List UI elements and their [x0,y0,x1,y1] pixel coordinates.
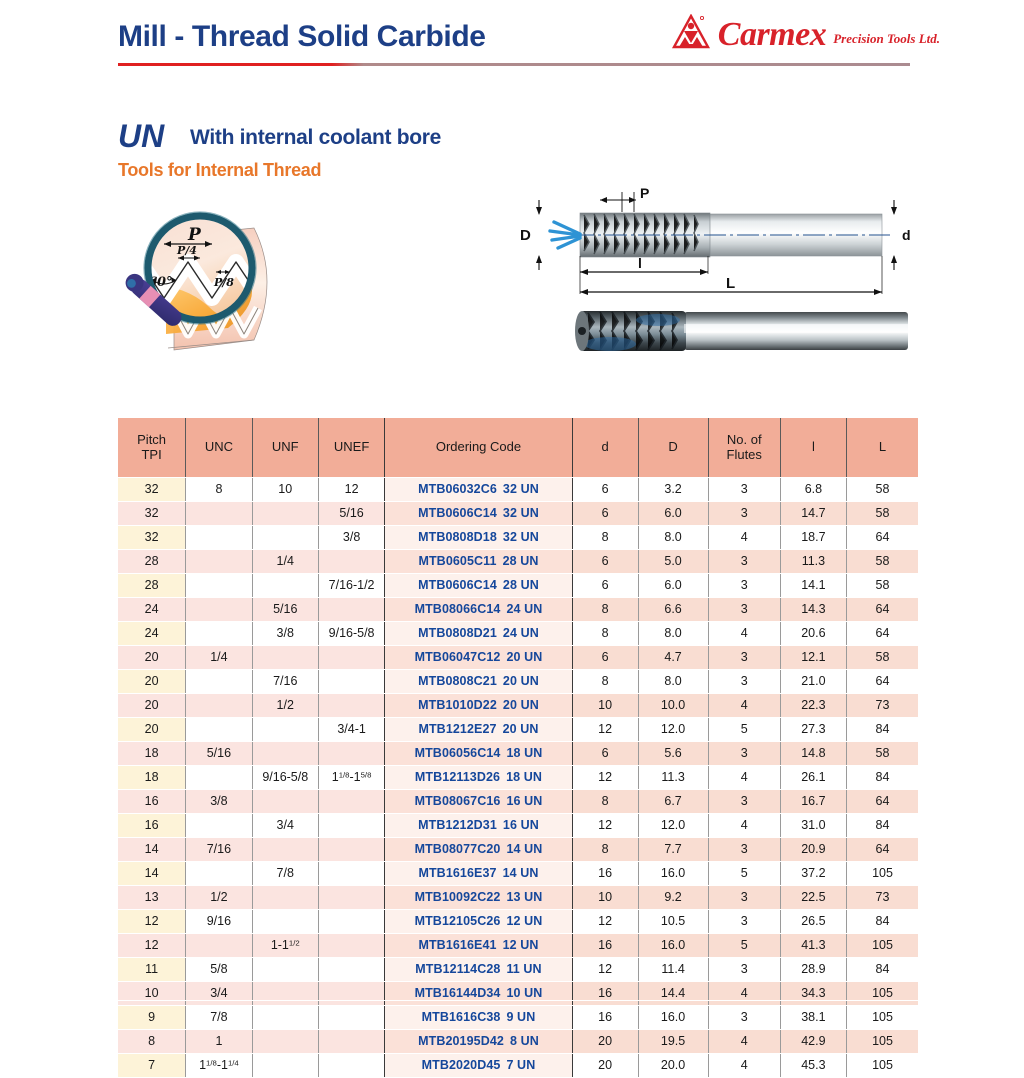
cell-unc: 8 [186,478,252,502]
cell-pitch-tpi: 18 [118,766,186,790]
cell-unc [186,574,252,598]
P-dimension-label: P [640,185,649,201]
ordering-code-suffix: 28 UN [497,578,539,592]
cell-unef [318,814,384,838]
cell-pitch-tpi: 24 [118,598,186,622]
cell-D-major: 5.0 [638,550,708,574]
cell-pitch-tpi: 28 [118,550,186,574]
ordering-code-suffix: 20 UN [500,650,542,664]
cell-ordering-code: MTB1010D2220 UN [385,694,572,718]
cell-unef: 7/16-1/2 [318,574,384,598]
ordering-code-value: MTB10092C22 [415,890,501,904]
cell-unef [318,790,384,814]
cell-D-major: 6.0 [638,574,708,598]
cell-L: 105 [846,1006,918,1030]
ordering-code-suffix: 14 UN [500,842,542,856]
cell-flutes: 4 [708,1054,780,1078]
cell-flutes: 3 [708,886,780,910]
cell-unc: 3/8 [186,790,252,814]
cell-l: 42.9 [780,1030,846,1054]
cell-flutes: 3 [708,598,780,622]
specifications-table: Pitch TPI UNC UNF UNEF Ordering Code d D… [118,418,918,1078]
cell-ordering-code: MTB1212E2720 UN [385,718,572,742]
table-row: 129/16MTB12105C2612 UN1210.5326.584 [118,910,918,934]
cell-unc: 5/16 [186,742,252,766]
cell-D-major: 9.2 [638,886,708,910]
ordering-code-value: MTB1212E27 [418,722,496,736]
cell-pitch-tpi: 32 [118,502,186,526]
table-row: 3281012MTB06032C632 UN63.236.858 [118,478,918,502]
cell-unc [186,550,252,574]
cell-d: 10 [572,694,638,718]
cell-pitch-tpi: 7 [118,1054,186,1078]
cell-d: 8 [572,790,638,814]
table-row: 207/16MTB0808C2120 UN88.0321.064 [118,670,918,694]
ordering-code-value: MTB08077C20 [415,842,501,856]
cell-pitch-tpi: 14 [118,862,186,886]
cell-pitch-tpi: 8 [118,1030,186,1054]
cell-ordering-code: MTB0808D1832 UN [385,526,572,550]
cell-D-major: 6.6 [638,598,708,622]
ordering-code-suffix: 14 UN [497,866,539,880]
coolant-bore-label: With internal coolant bore [190,126,441,150]
cell-unc [186,502,252,526]
cell-L: 64 [846,790,918,814]
ordering-code-value: MTB0808C21 [418,674,497,688]
cell-pitch-tpi: 12 [118,934,186,958]
cell-pitch-tpi: 32 [118,478,186,502]
cell-flutes: 4 [708,526,780,550]
ordering-code-suffix: 10 UN [500,986,542,1000]
cell-ordering-code: MTB0808D2124 UN [385,622,572,646]
cell-unf: 7/8 [252,862,318,886]
cell-D-major: 5.6 [638,742,708,766]
cell-l: 18.7 [780,526,846,550]
cell-unf [252,982,318,1006]
cell-flutes: 4 [708,814,780,838]
cell-flutes: 3 [708,670,780,694]
cell-d: 16 [572,982,638,1006]
cell-unc [186,862,252,886]
cell-L: 73 [846,694,918,718]
cell-unc: 11/8-11/4 [186,1054,252,1078]
cell-l: 6.8 [780,478,846,502]
cell-pitch-tpi: 20 [118,646,186,670]
cell-l: 21.0 [780,670,846,694]
table-header: Pitch TPI UNC UNF UNEF Ordering Code d D… [118,418,918,478]
cell-unef [318,550,384,574]
cell-D-major: 20.0 [638,1054,708,1078]
cell-l: 14.7 [780,502,846,526]
cell-unf [252,886,318,910]
cell-L: 58 [846,478,918,502]
cell-unef [318,742,384,766]
table-row: 147/16MTB08077C2014 UN87.7320.964 [118,838,918,862]
cell-ordering-code: MTB1616E3714 UN [385,862,572,886]
ordering-code-suffix: 20 UN [497,698,539,712]
cell-unef [318,1030,384,1054]
column-header-D-major: D [638,418,708,478]
table-row: 131/2MTB10092C2213 UN109.2322.573 [118,886,918,910]
table-row: 103/4MTB16144D3410 UN1614.4434.3105 [118,982,918,1006]
cell-L: 105 [846,982,918,1006]
page-title: Mill - Thread Solid Carbide [118,20,486,54]
ordering-code-suffix: 18 UN [500,746,542,760]
cell-unc: 1 [186,1030,252,1054]
table-row: 287/16-1/2MTB0606C1428 UN66.0314.158 [118,574,918,598]
cell-flutes: 5 [708,934,780,958]
cell-l: 14.3 [780,598,846,622]
cell-d: 6 [572,502,638,526]
ordering-code-suffix: 32 UN [497,506,539,520]
tool-dimension-diagram: D P d l L [512,182,920,298]
table-row: 189/16-5/811/8-15/8MTB12113D2618 UN1211.… [118,766,918,790]
cell-L: 64 [846,622,918,646]
cell-unc [186,526,252,550]
column-header-ordering-code: Ordering Code [385,418,572,478]
column-header-unc: UNC [186,418,252,478]
cell-unc [186,934,252,958]
cell-unef [318,646,384,670]
ordering-code-value: MTB1212D31 [418,818,497,832]
cell-d: 16 [572,862,638,886]
cell-L: 64 [846,838,918,862]
cell-D-major: 19.5 [638,1030,708,1054]
cell-pitch-tpi: 10 [118,982,186,1006]
column-header-unf: UNF [252,418,318,478]
cell-D-major: 8.0 [638,622,708,646]
cell-unc [186,622,252,646]
cell-pitch-tpi: 32 [118,526,186,550]
ordering-code-value: MTB1616C38 [422,1010,501,1024]
cell-unf [252,1054,318,1078]
cell-ordering-code: MTB06047C1220 UN [385,646,572,670]
cell-unef [318,1054,384,1078]
cell-l: 37.2 [780,862,846,886]
cell-flutes: 3 [708,958,780,982]
cell-D-major: 11.3 [638,766,708,790]
cell-unc: 1/4 [186,646,252,670]
tool-photograph [566,300,918,362]
cell-flutes: 4 [708,694,780,718]
table-row: 163/8MTB08067C1616 UN86.7316.764 [118,790,918,814]
cell-ordering-code: MTB12105C2612 UN [385,910,572,934]
ordering-code-value: MTB08066C14 [415,602,501,616]
cell-pitch-tpi: 28 [118,574,186,598]
cell-l: 22.5 [780,886,846,910]
brand-name: Carmex [718,19,826,52]
cell-unf: 1/2 [252,694,318,718]
column-header-unef: UNEF [318,418,384,478]
cell-unef [318,838,384,862]
cell-unf [252,742,318,766]
cell-flutes: 3 [708,574,780,598]
cell-unef: 5/16 [318,502,384,526]
table-row: 245/16MTB08066C1424 UN86.6314.364 [118,598,918,622]
cell-D-major: 16.0 [638,862,708,886]
l-dimension-label: l [638,255,642,271]
cell-flutes: 3 [708,478,780,502]
cell-d: 16 [572,934,638,958]
table-header-row: Pitch TPI UNC UNF UNEF Ordering Code d D… [118,418,918,478]
cell-L: 105 [846,1030,918,1054]
cell-l: 20.6 [780,622,846,646]
cell-D-major: 12.0 [638,814,708,838]
table-row: 323/8MTB0808D1832 UN88.0418.764 [118,526,918,550]
cell-ordering-code: MTB1616C389 UN [385,1006,572,1030]
cell-unc [186,718,252,742]
cell-pitch-tpi: 16 [118,790,186,814]
cell-d: 8 [572,670,638,694]
cell-ordering-code: MTB12114C2811 UN [385,958,572,982]
L-dimension-label: L [726,275,735,292]
ordering-code-suffix: 13 UN [500,890,542,904]
table-body: 3281012MTB06032C632 UN63.236.858325/16MT… [118,478,918,1078]
cell-unf: 5/16 [252,598,318,622]
cell-pitch-tpi: 16 [118,814,186,838]
brand-tagline: Precision Tools Ltd. [833,31,940,52]
cell-d: 8 [572,598,638,622]
cell-D-major: 8.0 [638,670,708,694]
cell-flutes: 3 [708,502,780,526]
cell-unf: 9/16-5/8 [252,766,318,790]
cell-unf [252,790,318,814]
cell-unef: 12 [318,478,384,502]
cell-d: 6 [572,478,638,502]
cell-L: 64 [846,526,918,550]
cell-d: 12 [572,814,638,838]
table-row: 185/16MTB06056C1418 UN65.6314.858 [118,742,918,766]
cell-L: 64 [846,670,918,694]
ordering-code-value: MTB1616E41 [418,938,496,952]
table-row: 115/8MTB12114C2811 UN1211.4328.984 [118,958,918,982]
cell-unc: 3/4 [186,982,252,1006]
cell-d: 6 [572,646,638,670]
cell-D-major: 10.5 [638,910,708,934]
cell-l: 45.3 [780,1054,846,1078]
cell-unf [252,910,318,934]
cell-D-major: 8.0 [638,526,708,550]
ordering-code-value: MTB12105C26 [415,914,501,928]
ordering-code-value: MTB16144D34 [415,986,501,1000]
ordering-code-suffix: 16 UN [497,818,539,832]
cell-L: 73 [846,886,918,910]
cell-pitch-tpi: 20 [118,718,186,742]
cell-unf: 1-11/2 [252,934,318,958]
cell-unf: 1/4 [252,550,318,574]
ordering-code-value: MTB0808D21 [418,626,497,640]
ordering-code-value: MTB1010D22 [418,698,497,712]
column-header-d: d [572,418,638,478]
ordering-code-value: MTB20195D42 [418,1034,504,1048]
cell-ordering-code: MTB20195D428 UN [385,1030,572,1054]
cell-L: 58 [846,574,918,598]
cell-l: 26.5 [780,910,846,934]
cell-unef: 11/8-15/8 [318,766,384,790]
column-header-flutes: No. of Flutes [708,418,780,478]
cell-pitch-tpi: 11 [118,958,186,982]
cell-ordering-code: MTB0606C1432 UN [385,502,572,526]
cell-d: 12 [572,958,638,982]
cell-unf: 10 [252,478,318,502]
cell-d: 8 [572,838,638,862]
cell-unef: 9/16-5/8 [318,622,384,646]
cell-l: 31.0 [780,814,846,838]
cell-ordering-code: MTB08067C1616 UN [385,790,572,814]
cell-unc: 5/8 [186,958,252,982]
cell-ordering-code: MTB0605C1128 UN [385,550,572,574]
cell-d: 12 [572,718,638,742]
cell-ordering-code: MTB1616E4112 UN [385,934,572,958]
thread-profile-illustration: P P/4 P/8 60° [104,188,404,378]
cell-flutes: 3 [708,646,780,670]
table-row: 203/4-1MTB1212E2720 UN1212.0527.384 [118,718,918,742]
ordering-code-value: MTB2020D45 [422,1058,501,1072]
ordering-code-suffix: 12 UN [497,938,539,952]
cell-l: 28.9 [780,958,846,982]
cell-ordering-code: MTB1212D3116 UN [385,814,572,838]
cell-ordering-code: MTB10092C2213 UN [385,886,572,910]
cell-D-major: 7.7 [638,838,708,862]
table-row: 325/16MTB0606C1432 UN66.0314.758 [118,502,918,526]
cell-D-major: 12.0 [638,718,708,742]
cell-unc [186,814,252,838]
cell-pitch-tpi: 18 [118,742,186,766]
cell-unf [252,646,318,670]
thread-standard-label: UN [118,118,164,155]
ordering-code-suffix: 12 UN [500,914,542,928]
cell-D-major: 16.0 [638,934,708,958]
cell-unf: 7/16 [252,670,318,694]
table-row: 243/89/16-5/8MTB0808D2124 UN88.0420.664 [118,622,918,646]
d-dimension-label: d [902,227,911,243]
cell-l: 14.1 [780,574,846,598]
cell-flutes: 3 [708,1006,780,1030]
table-row: 121-11/2MTB1616E4112 UN1616.0541.3105 [118,934,918,958]
cell-ordering-code: MTB08077C2014 UN [385,838,572,862]
cell-unef [318,886,384,910]
cell-unf [252,574,318,598]
D-dimension-label: D [520,227,531,244]
ordering-code-value: MTB0808D18 [418,530,497,544]
cell-unf [252,1006,318,1030]
cell-l: 16.7 [780,790,846,814]
ordering-code-value: MTB12113D26 [415,770,500,784]
ordering-code-value: MTB06032C6 [418,482,497,496]
ordering-code-suffix: 8 UN [504,1034,539,1048]
cell-D-major: 16.0 [638,1006,708,1030]
cell-D-major: 4.7 [638,646,708,670]
cell-ordering-code: MTB16144D3410 UN [385,982,572,1006]
table-bottom-edge [118,1000,918,1001]
cell-d: 12 [572,766,638,790]
ordering-code-suffix: 32 UN [497,482,539,496]
cell-D-major: 3.2 [638,478,708,502]
ordering-code-suffix: 20 UN [497,722,539,736]
column-header-L: L [846,418,918,478]
cell-unef [318,598,384,622]
cell-flutes: 5 [708,718,780,742]
cell-unef [318,958,384,982]
ordering-code-suffix: 32 UN [497,530,539,544]
cell-L: 105 [846,1054,918,1078]
table-row: 163/4MTB1212D3116 UN1212.0431.084 [118,814,918,838]
cell-unef [318,982,384,1006]
ordering-code-suffix: 28 UN [497,554,539,568]
cell-pitch-tpi: 13 [118,886,186,910]
cell-D-major: 10.0 [638,694,708,718]
cell-unc [186,598,252,622]
column-header-pitch-tpi: Pitch TPI [118,418,186,478]
ordering-code-suffix: 20 UN [497,674,539,688]
cell-d: 6 [572,742,638,766]
cell-unf [252,838,318,862]
cell-pitch-tpi: 14 [118,838,186,862]
cell-flutes: 3 [708,838,780,862]
cell-pitch-tpi: 20 [118,694,186,718]
cell-flutes: 4 [708,766,780,790]
cell-unef [318,934,384,958]
cell-unf [252,502,318,526]
cell-unc: 1/2 [186,886,252,910]
cell-L: 84 [846,766,918,790]
cell-flutes: 4 [708,1030,780,1054]
cell-d: 8 [572,622,638,646]
cell-ordering-code: MTB0606C1428 UN [385,574,572,598]
cell-ordering-code: MTB06032C632 UN [385,478,572,502]
cell-L: 58 [846,550,918,574]
cell-D-major: 6.7 [638,790,708,814]
cell-unf [252,958,318,982]
ordering-code-suffix: 16 UN [500,794,542,808]
cell-unef: 3/8 [318,526,384,550]
cell-l: 38.1 [780,1006,846,1030]
cell-d: 10 [572,886,638,910]
ordering-code-value: MTB06056C14 [415,746,501,760]
cell-flutes: 3 [708,910,780,934]
cell-l: 34.3 [780,982,846,1006]
cell-d: 20 [572,1030,638,1054]
table-row: 711/8-11/4MTB2020D457 UN2020.0445.3105 [118,1054,918,1078]
cell-flutes: 4 [708,622,780,646]
cell-flutes: 3 [708,742,780,766]
table-row: 147/8MTB1616E3714 UN1616.0537.2105 [118,862,918,886]
cell-unf [252,526,318,550]
header-divider [118,63,910,66]
cell-d: 16 [572,1006,638,1030]
ordering-code-value: MTB06047C12 [415,650,501,664]
page-header: Mill - Thread Solid Carbide Carmex Preci… [0,0,1024,74]
cell-pitch-tpi: 20 [118,670,186,694]
ordering-code-value: MTB0606C14 [418,506,497,520]
cell-unc: 7/16 [186,838,252,862]
ordering-code-suffix: 7 UN [500,1058,535,1072]
cell-ordering-code: MTB2020D457 UN [385,1054,572,1078]
cell-l: 22.3 [780,694,846,718]
cell-unf: 3/4 [252,814,318,838]
cell-unef: 3/4-1 [318,718,384,742]
carmex-logo: Carmex Precision Tools Ltd. [671,14,940,52]
table-row: 201/2MTB1010D2220 UN1010.0422.373 [118,694,918,718]
cell-flutes: 3 [708,550,780,574]
cell-L: 84 [846,910,918,934]
cell-l: 27.3 [780,718,846,742]
ordering-code-suffix: 24 UN [497,626,539,640]
cell-d: 6 [572,574,638,598]
cell-pitch-tpi: 12 [118,910,186,934]
cell-L: 84 [846,814,918,838]
cell-L: 105 [846,934,918,958]
